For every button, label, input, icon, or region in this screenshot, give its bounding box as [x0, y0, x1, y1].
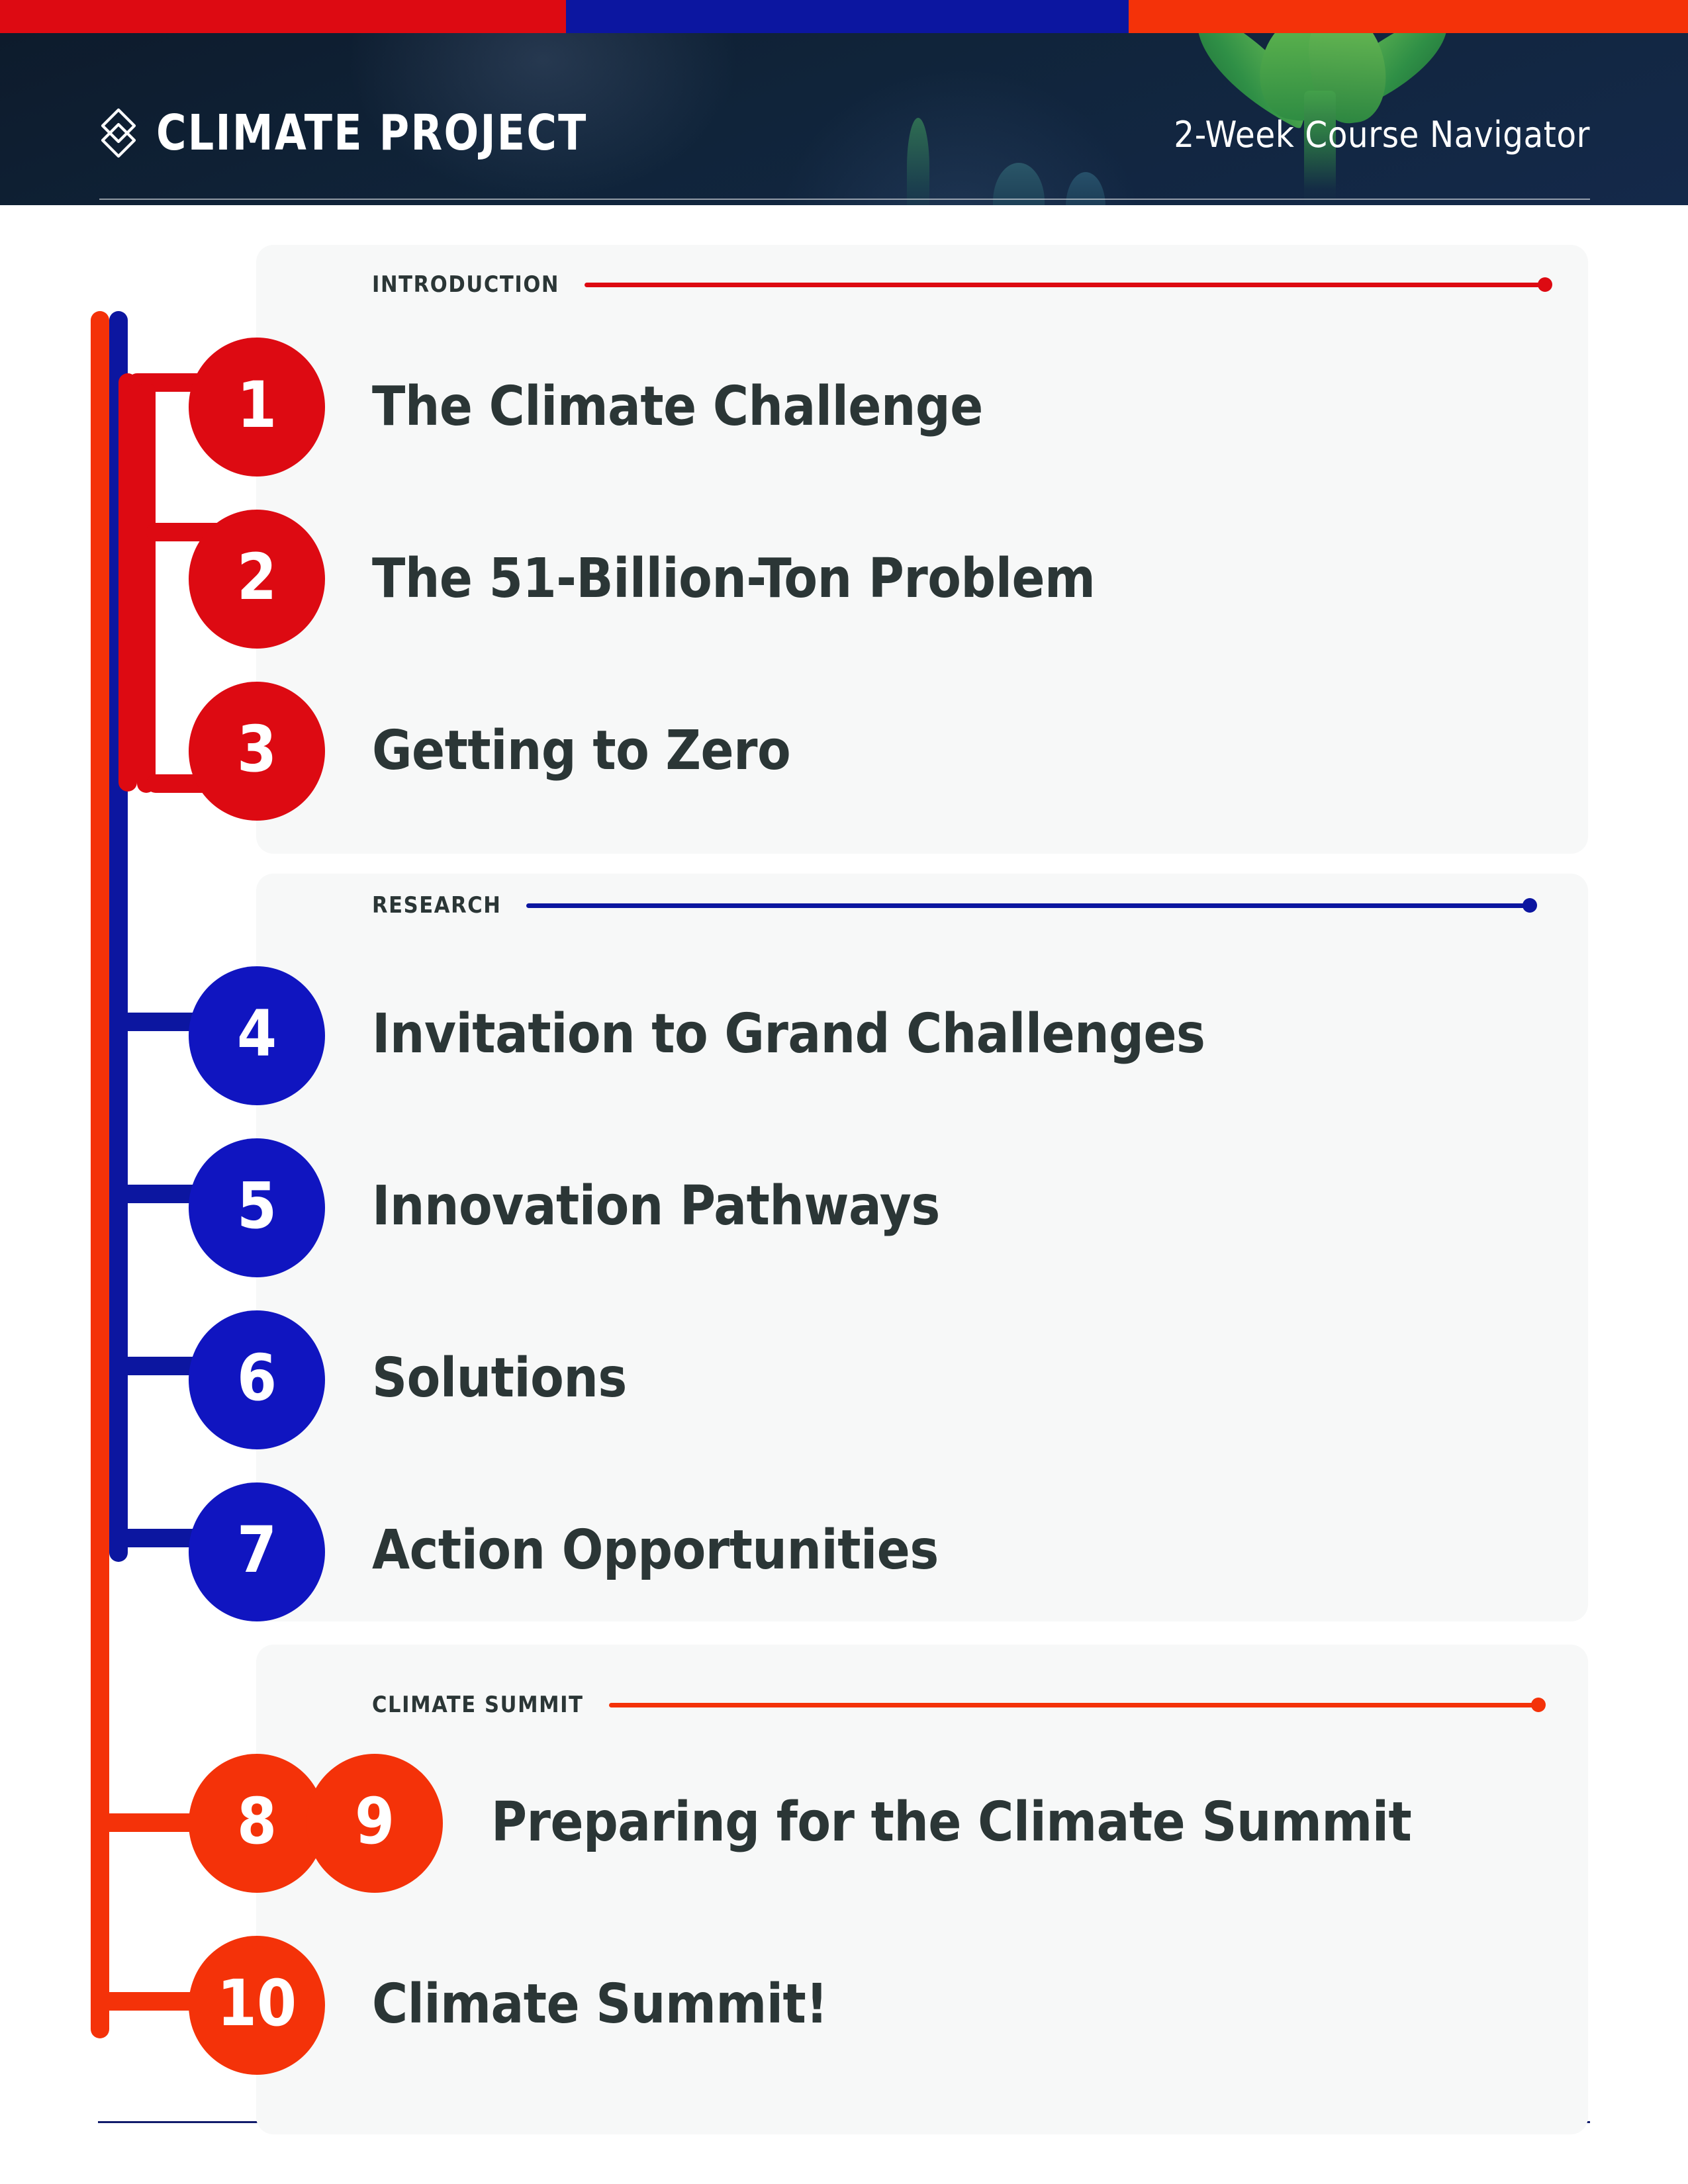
top-bar-segment-orange	[1129, 0, 1688, 33]
step-title-3[interactable]: Getting to Zero	[372, 724, 790, 778]
top-bar-segment-red	[0, 0, 566, 33]
step-title-1[interactable]: The Climate Challenge	[372, 380, 983, 434]
section-card-climate-summit	[256, 1645, 1588, 2134]
brand-lockup: CLIMATE PROJECT	[99, 105, 620, 161]
step-bubble-8[interactable]: 8	[189, 1754, 325, 1893]
connector-trunk-introduction	[118, 373, 137, 792]
step-bubble-2[interactable]: 2	[189, 510, 325, 649]
step-title-8[interactable]: Preparing for the Climate Summit	[491, 1796, 1411, 1850]
section-label-climate-summit: CLIMATE SUMMIT	[372, 1692, 584, 1718]
header-divider	[99, 199, 1590, 200]
step-number-8: 8	[237, 1790, 277, 1853]
background-shoot-right	[1066, 172, 1105, 205]
section-header-introduction: INTRODUCTION	[372, 271, 1548, 298]
step-number-5: 5	[237, 1174, 277, 1238]
step-title-5[interactable]: Innovation Pathways	[372, 1179, 940, 1234]
step-bubble-1[interactable]: 1	[189, 338, 325, 477]
section-header-climate-summit: CLIMATE SUMMIT	[372, 1692, 1541, 1718]
step-bubble-9[interactable]: 9	[306, 1754, 443, 1893]
step-bubble-5[interactable]: 5	[189, 1138, 325, 1277]
spine-orange	[91, 311, 109, 2038]
step-number-7: 7	[237, 1518, 277, 1582]
top-bar-segment-blue	[566, 0, 1129, 33]
step-number-1: 1	[237, 373, 277, 437]
step-title-2[interactable]: The 51-Billion-Ton Problem	[372, 552, 1095, 606]
section-rule-research	[526, 903, 1532, 908]
step-bubble-6[interactable]: 6	[189, 1310, 325, 1449]
step-title-7[interactable]: Action Opportunities	[372, 1524, 939, 1578]
step-number-3: 3	[237, 717, 277, 781]
connector-trunk-introduction-2	[137, 383, 156, 793]
page-header: CLIMATE PROJECT 2-Week Course Navigator	[0, 33, 1688, 205]
top-color-bar	[0, 0, 1688, 33]
section-label-introduction: INTRODUCTION	[372, 271, 559, 298]
step-title-6[interactable]: Solutions	[372, 1351, 627, 1406]
section-header-research: RESEARCH	[372, 892, 1532, 919]
step-bubble-10[interactable]: 10	[189, 1936, 325, 2075]
step-bubble-3[interactable]: 3	[189, 682, 325, 821]
step-bubble-7[interactable]: 7	[189, 1482, 325, 1621]
step-bubble-4[interactable]: 4	[189, 966, 325, 1105]
step-number-9: 9	[355, 1790, 395, 1853]
step-number-10: 10	[217, 1972, 297, 2035]
brand-title: CLIMATE PROJECT	[156, 105, 588, 161]
step-title-4[interactable]: Invitation to Grand Challenges	[372, 1007, 1205, 1062]
step-number-2: 2	[237, 545, 277, 609]
header-tagline: 2-Week Course Navigator	[1174, 114, 1590, 156]
section-rule-introduction	[585, 283, 1548, 287]
step-number-6: 6	[237, 1346, 277, 1410]
background-shoot-left	[907, 118, 929, 205]
section-rule-climate-summit	[609, 1703, 1541, 1707]
section-label-research: RESEARCH	[372, 892, 501, 919]
step-title-10[interactable]: Climate Summit!	[372, 1978, 827, 2032]
section-card-research	[256, 874, 1588, 1621]
step-number-4: 4	[237, 1002, 277, 1066]
interlocking-diamonds-logo-icon	[99, 107, 138, 159]
